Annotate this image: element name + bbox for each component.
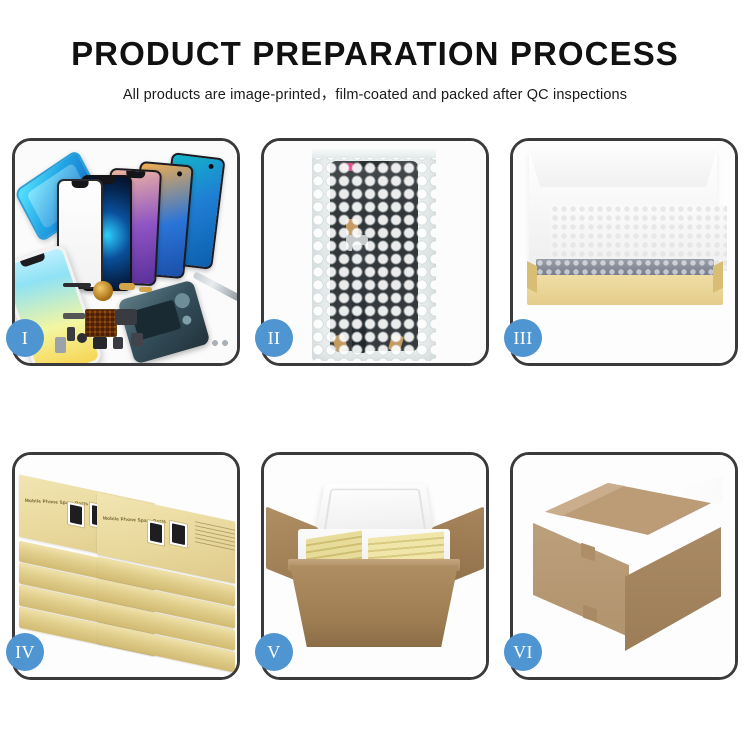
yellow-inner-box-icon <box>527 259 723 305</box>
bubble-wrap-bag-icon <box>312 149 436 361</box>
process-step-grid: I II <box>12 138 738 680</box>
step-badge-5: V <box>255 633 293 671</box>
white-foam-lid-icon <box>529 151 717 269</box>
step-3-image <box>513 141 735 363</box>
step-badge-4: IV <box>6 633 44 671</box>
bubble-texture-icon <box>312 149 436 361</box>
process-step-panel-3[interactable]: III <box>510 138 738 366</box>
small-part-c-icon <box>113 337 123 349</box>
step-badge-2: II <box>255 319 293 357</box>
box-stack-icon: Mobile Phone Spare Parts Mobile Phone Sp… <box>19 471 235 667</box>
process-step-panel-5[interactable]: V <box>261 452 489 680</box>
process-step-panel-2[interactable]: II <box>261 138 489 366</box>
connector-grid-icon <box>85 309 117 337</box>
page-header: PRODUCT PREPARATION PROCESS All products… <box>0 0 750 104</box>
flex-cable-b-icon <box>139 287 152 292</box>
ribbon-cable-icon <box>63 313 85 319</box>
step-2-image <box>264 141 486 363</box>
carton-left-face-icon <box>533 513 629 637</box>
small-part-a-icon <box>67 327 75 341</box>
vibration-motor-icon <box>93 281 113 301</box>
step-4-image: Mobile Phone Spare Parts Mobile Phone Sp… <box>15 455 237 677</box>
process-step-panel-4[interactable]: Mobile Phone Spare Parts Mobile Phone Sp… <box>12 452 240 680</box>
box-front-panel-icon <box>527 275 723 305</box>
sealed-carton-icon <box>525 483 727 651</box>
step-5-image <box>264 455 486 677</box>
step-6-image <box>513 455 735 677</box>
small-part-b-icon <box>93 337 107 349</box>
step-1-image <box>15 141 237 363</box>
step-badge-6: VI <box>504 633 542 671</box>
page-title: PRODUCT PREPARATION PROCESS <box>0 36 750 72</box>
page-subtitle: All products are image-printed，film-coat… <box>0 83 750 104</box>
box-right-wall-icon <box>713 261 723 293</box>
bag-seal-icon <box>312 149 436 158</box>
carton-body-icon <box>290 565 458 647</box>
process-step-panel-6[interactable]: VI <box>510 452 738 680</box>
small-part-d-icon <box>131 333 143 346</box>
carton-right-face-icon <box>625 527 721 651</box>
step-badge-3: III <box>504 319 542 357</box>
sim-tray-icon <box>55 337 66 353</box>
speaker-icon <box>77 333 87 343</box>
earpiece-mesh-icon <box>63 283 91 287</box>
camera-module-icon <box>115 309 137 325</box>
box-left-wall-icon <box>527 261 537 293</box>
process-step-panel-1[interactable]: I <box>12 138 240 366</box>
screws-icon <box>211 339 233 347</box>
flex-cable-a-icon <box>119 283 135 290</box>
step-badge-1: I <box>6 319 44 357</box>
